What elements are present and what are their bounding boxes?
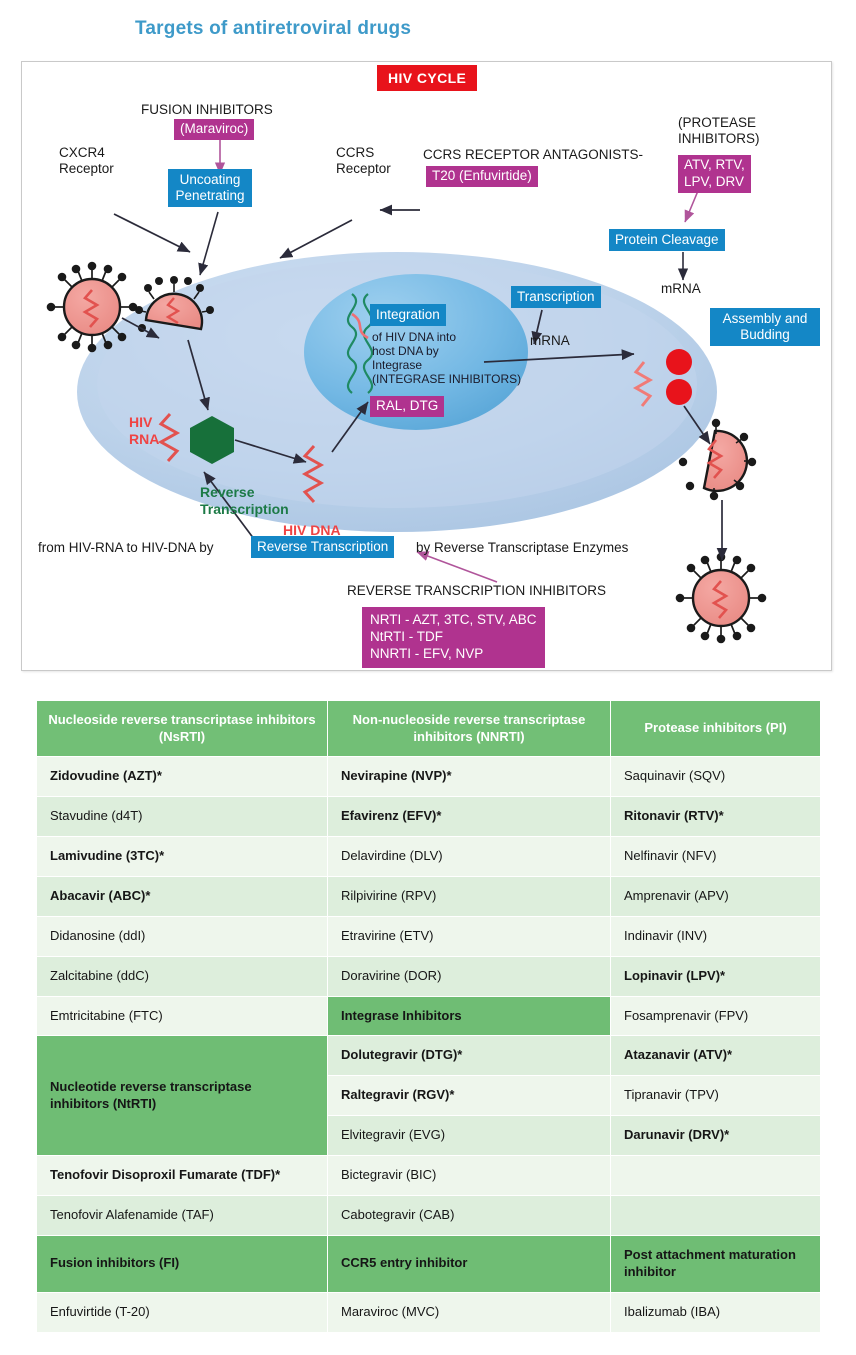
table-row: Nucleotide reverse transcriptase inhibit…: [37, 1036, 821, 1076]
table-cell: Maraviroc (MVC): [328, 1292, 611, 1332]
table-cell: Rilpivirine (RPV): [328, 876, 611, 916]
t20-enfuvirtide-box: T20 (Enfuvirtide): [426, 166, 538, 187]
integration-box: Integration: [370, 304, 446, 326]
reverse-transcription-box: Reverse Transcription: [251, 536, 394, 558]
table-cell: Integrase Inhibitors: [328, 996, 611, 1036]
transcription-box: Transcription: [511, 286, 601, 308]
table-cell: Enfuvirtide (T-20): [37, 1292, 328, 1332]
table-cell: Fusion inhibitors (FI): [37, 1235, 328, 1292]
table-cell: Indinavir (INV): [611, 916, 821, 956]
table-cell: CCR5 entry inhibitor: [328, 1235, 611, 1292]
table-cell: Post attachment maturation inhibitor: [611, 1235, 821, 1292]
table-row: Didanosine (ddI)Etravirine (ETV)Indinavi…: [37, 916, 821, 956]
table-cell: Stavudine (d4T): [37, 797, 328, 837]
table-cell: Darunavir (DRV)*: [611, 1116, 821, 1156]
rt-inhibitors-label: REVERSE TRANSCRIPTION INHIBITORS: [347, 583, 606, 599]
ccrs-receptor-label: CCRS Receptor: [336, 145, 391, 177]
hiv-rna-label: HIV RNA: [129, 414, 159, 447]
table-cell: Fosamprenavir (FPV): [611, 996, 821, 1036]
table-cell: Lamivudine (3TC)*: [37, 837, 328, 877]
fusion-inhibitors-label: FUSION INHIBITORS: [141, 102, 273, 118]
ccrs-receptor-antagonists-label: CCRS RECEPTOR ANTAGONISTS-: [423, 147, 643, 163]
footer-left-text: from HIV-RNA to HIV-DNA by: [38, 540, 214, 556]
table-cell: Bictegravir (BIC): [328, 1156, 611, 1196]
table-cell: Zidovudine (AZT)*: [37, 757, 328, 797]
integration-body-text: of HIV DNA into host DNA by Integrase (I…: [372, 330, 521, 387]
table-cell: Efavirenz (EFV)*: [328, 797, 611, 837]
table-header-row: Nucleoside reverse transcriptase inhibit…: [37, 701, 821, 757]
table-row: Tenofovir Disoproxil Fumarate (TDF)*Bict…: [37, 1156, 821, 1196]
table-row: Abacavir (ABC)*Rilpivirine (RPV)Amprenav…: [37, 876, 821, 916]
table-cell: Tenofovir Disoproxil Fumarate (TDF)*: [37, 1156, 328, 1196]
table-cell: Abacavir (ABC)*: [37, 876, 328, 916]
table-cell: Lopinavir (LPV)*: [611, 956, 821, 996]
column-header-nsrti: Nucleoside reverse transcriptase inhibit…: [37, 701, 328, 757]
mrna-top-label: mRNA: [661, 281, 701, 297]
table-cell: Cabotegravir (CAB): [328, 1196, 611, 1236]
column-header-pi: Protease inhibitors (PI): [611, 701, 821, 757]
table-cell: Amprenavir (APV): [611, 876, 821, 916]
footer-right-text: by Reverse Transcriptase Enzymes: [416, 540, 628, 556]
table-cell: Ritonavir (RTV)*: [611, 797, 821, 837]
table-body: Zidovudine (AZT)*Nevirapine (NVP)*Saquin…: [37, 757, 821, 1332]
protease-inhibitors-label: (PROTEASE INHIBITORS): [678, 115, 760, 147]
table-row: Lamivudine (3TC)*Delavirdine (DLV)Nelfin…: [37, 837, 821, 877]
table-cell: Tenofovir Alafenamide (TAF): [37, 1196, 328, 1236]
column-header-nnrti: Non-nucleoside reverse transcriptase inh…: [328, 701, 611, 757]
page-title: Targets of antiretroviral drugs: [135, 18, 411, 40]
table-cell: Raltegravir (RGV)*: [328, 1076, 611, 1116]
table-cell: Saquinavir (SQV): [611, 757, 821, 797]
hiv-cycle-badge-real: HIV CYCLE: [377, 65, 477, 91]
table-row: Zidovudine (AZT)*Nevirapine (NVP)*Saquin…: [37, 757, 821, 797]
protease-inhibitor-drugs-box: ATV, RTV, LPV, DRV: [678, 155, 751, 193]
table-cell: Doravirine (DOR): [328, 956, 611, 996]
protein-cleavage-box: Protein Cleavage: [609, 229, 725, 251]
uncoating-penetrating-box: Uncoating Penetrating: [168, 169, 252, 207]
mrna-mid-label: mRNA: [530, 333, 570, 349]
table-row: Enfuvirtide (T-20)Maraviroc (MVC)Ibalizu…: [37, 1292, 821, 1332]
rt-inhibitor-drugs-box: NRTI - AZT, 3TC, STV, ABC NtRTI - TDF NN…: [362, 607, 545, 668]
reverse-transcription-label: Reverse Transcription: [200, 484, 289, 517]
cxcr4-receptor-label: CXCR4 Receptor: [59, 145, 114, 177]
table-cell: Zalcitabine (ddC): [37, 956, 328, 996]
table-cell: Tipranavir (TPV): [611, 1076, 821, 1116]
table-cell: Nucleotide reverse transcriptase inhibit…: [37, 1036, 328, 1156]
antiretroviral-drug-table: Nucleoside reverse transcriptase inhibit…: [36, 700, 821, 1333]
table-cell: Atazanavir (ATV)*: [611, 1036, 821, 1076]
table-row: Stavudine (d4T)Efavirenz (EFV)*Ritonavir…: [37, 797, 821, 837]
table-cell: Didanosine (ddI): [37, 916, 328, 956]
table-cell-empty: [611, 1196, 821, 1236]
table-cell: Dolutegravir (DTG)*: [328, 1036, 611, 1076]
table-cell-empty: [611, 1156, 821, 1196]
table-cell: Delavirdine (DLV): [328, 837, 611, 877]
table-cell: Etravirine (ETV): [328, 916, 611, 956]
page-root: Targets of antiretroviral drugs: [0, 0, 856, 1355]
ral-dtg-box: RAL, DTG: [370, 396, 444, 417]
table-row: Zalcitabine (ddC)Doravirine (DOR)Lopinav…: [37, 956, 821, 996]
table-cell: Emtricitabine (FTC): [37, 996, 328, 1036]
table-row: Emtricitabine (FTC)Integrase InhibitorsF…: [37, 996, 821, 1036]
hiv-cycle-diagram-panel: HIV CYCLE FUSION INHIBITORS (Maraviroc) …: [21, 61, 832, 671]
maraviroc-box: (Maraviroc): [174, 119, 254, 140]
table-cell: Nelfinavir (NFV): [611, 837, 821, 877]
table-cell: Ibalizumab (IBA): [611, 1292, 821, 1332]
table-row: Fusion inhibitors (FI)CCR5 entry inhibit…: [37, 1235, 821, 1292]
table-cell: Nevirapine (NVP)*: [328, 757, 611, 797]
assembly-budding-box: Assembly and Budding: [710, 308, 820, 346]
table-row: Tenofovir Alafenamide (TAF)Cabotegravir …: [37, 1196, 821, 1236]
table-cell: Elvitegravir (EVG): [328, 1116, 611, 1156]
